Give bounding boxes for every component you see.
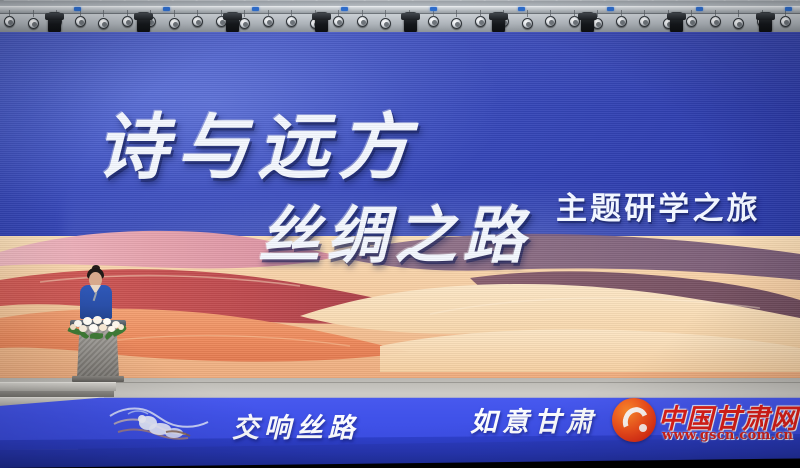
par-light-icon	[710, 16, 721, 27]
par-light-icon	[475, 16, 486, 27]
title-line-1: 诗与远方	[96, 88, 419, 193]
light-cable	[174, 10, 175, 17]
par-light-icon	[98, 18, 109, 29]
par-light-icon	[192, 16, 203, 27]
light-cable	[338, 10, 339, 17]
par-light-icon	[545, 16, 556, 27]
light-cable	[738, 10, 739, 17]
light-cable	[527, 10, 528, 17]
moving-head-light-icon	[226, 12, 239, 32]
par-light-icon	[333, 16, 344, 27]
light-cable	[574, 10, 575, 17]
light-cable	[362, 10, 363, 17]
moving-head-light-icon	[581, 12, 594, 32]
truss-blue-marker	[696, 7, 703, 11]
moving-head-light-icon	[492, 12, 505, 32]
par-light-icon	[380, 18, 391, 29]
par-light-icon	[451, 18, 462, 29]
light-cable	[221, 10, 222, 17]
light-cable	[385, 10, 386, 17]
lighting-truss	[0, 0, 800, 32]
light-cable	[80, 10, 81, 17]
truss-blue-marker	[163, 7, 170, 11]
light-cable	[9, 10, 10, 17]
par-light-icon	[122, 16, 133, 27]
light-cable	[197, 10, 198, 17]
light-cable	[103, 10, 104, 17]
moving-head-light-icon	[670, 12, 683, 32]
flower-arrangement	[66, 312, 130, 338]
par-light-icon	[780, 16, 791, 27]
truss-blue-marker	[518, 7, 525, 11]
taiji-dot	[639, 424, 647, 432]
podium-group	[62, 268, 136, 386]
taiji-hook	[619, 404, 652, 439]
truss-blue-marker	[341, 7, 348, 11]
light-cable	[550, 10, 551, 17]
truss-blue-marker	[252, 7, 259, 11]
watermark-url: www.gscn.com.cn	[662, 428, 793, 443]
moving-head-light-icon	[48, 12, 61, 32]
par-light-icon	[169, 18, 180, 29]
par-light-icon	[357, 16, 368, 27]
par-light-icon	[28, 18, 39, 29]
light-cable	[291, 10, 292, 17]
truss-blue-marker	[430, 7, 437, 11]
banner-text-right: 如意甘肃	[470, 400, 597, 439]
banner-text-left: 交响丝路	[232, 406, 359, 445]
par-light-icon	[733, 18, 744, 29]
truss-blue-marker	[74, 7, 81, 11]
light-cable	[33, 10, 34, 17]
light-cable	[244, 10, 245, 17]
light-cable	[480, 10, 481, 17]
par-light-icon	[639, 16, 650, 27]
truss-blue-marker	[607, 7, 614, 11]
light-cable	[621, 10, 622, 17]
par-light-icon	[522, 18, 533, 29]
title-line-2: 丝绸之路	[258, 185, 531, 275]
light-cable	[644, 10, 645, 17]
stage-scene: 诗与远方 丝绸之路 主题研学之旅	[0, 0, 800, 468]
par-light-icon	[75, 16, 86, 27]
light-cable	[433, 10, 434, 17]
par-light-icon	[686, 16, 697, 27]
podium-base	[72, 376, 124, 382]
light-cable	[268, 10, 269, 17]
gansu-taiji-logo-icon	[612, 398, 656, 442]
moving-head-light-icon	[315, 12, 328, 32]
light-cable	[691, 10, 692, 17]
light-cable	[597, 10, 598, 17]
flying-apsara-icon	[104, 402, 212, 448]
par-light-icon	[286, 16, 297, 27]
apsara-svg	[104, 402, 212, 448]
moving-head-light-icon	[137, 12, 150, 32]
site-watermark: 中国甘肃网 www.gscn.com.cn	[612, 396, 798, 448]
moving-head-light-icon	[759, 12, 772, 32]
moving-head-light-icon	[404, 12, 417, 32]
screen-subtitle: 主题研学之旅	[556, 183, 761, 228]
light-cable	[785, 10, 786, 17]
light-cable	[456, 10, 457, 17]
par-light-icon	[616, 16, 627, 27]
par-light-icon	[4, 16, 15, 27]
truss-blue-marker	[785, 7, 792, 11]
light-cable	[127, 10, 128, 17]
par-light-icon	[263, 16, 274, 27]
light-cable	[715, 10, 716, 17]
par-light-icon	[428, 16, 439, 27]
